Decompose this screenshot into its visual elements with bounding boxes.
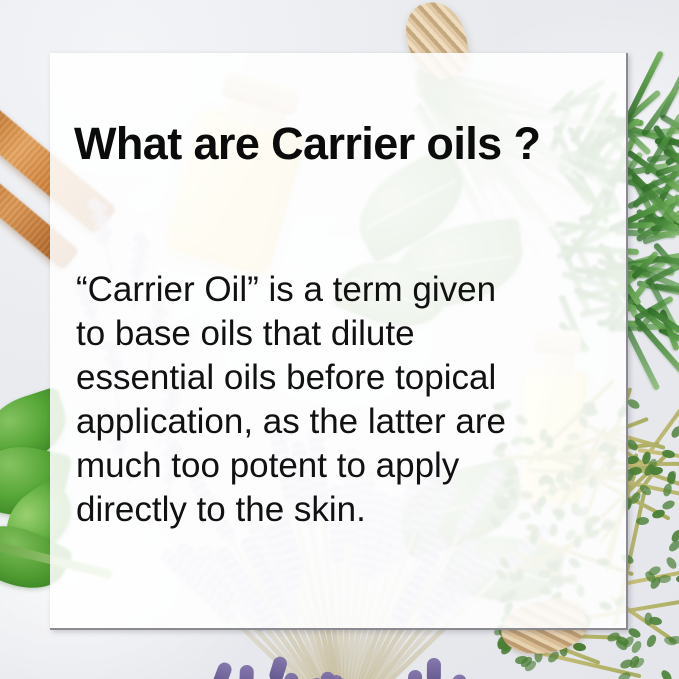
thyme-leaf (664, 555, 678, 570)
thyme-leaf (670, 425, 679, 440)
thyme-leaf (659, 669, 673, 679)
lavender-bud-purple (427, 658, 441, 679)
lavender-bud-purple (211, 660, 233, 679)
thyme-leaf (636, 516, 649, 525)
lavender-bud-purple (451, 673, 473, 679)
lavender-bud-purple (239, 665, 254, 679)
thyme-leaf (629, 467, 643, 476)
content-card (50, 53, 628, 630)
carrier-oils-infographic: What are Carrier oils ? “Carrier Oil” is… (0, 0, 679, 679)
lavender-bud-purple (406, 669, 423, 679)
thyme-leaf (645, 633, 658, 648)
thyme-leaf (626, 397, 641, 410)
